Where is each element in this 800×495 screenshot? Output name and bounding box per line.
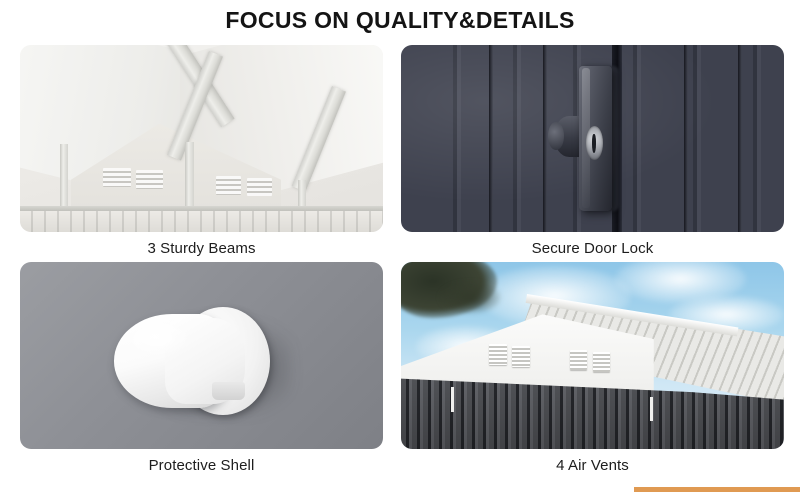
- image-protective-shell[interactable]: [20, 262, 383, 449]
- interior-vent-louver-3: [216, 176, 241, 195]
- support-post-1: [60, 144, 68, 208]
- door-panel-seam-4: [738, 45, 742, 232]
- accent-bar: [634, 487, 800, 492]
- feature-caption-secure-door-lock: Secure Door Lock: [401, 232, 784, 259]
- air-vent-louver-4: [593, 352, 611, 373]
- air-vent-louver-1: [489, 344, 507, 365]
- interior-vent-louver-4: [247, 178, 272, 197]
- corrugated-wall-panel: [20, 211, 383, 232]
- feature-card-sturdy-beams[interactable]: 3 Sturdy Beams: [20, 45, 383, 259]
- feature-card-air-vents[interactable]: 4 Air Vents: [401, 262, 784, 476]
- door-panel-seam-3: [684, 45, 688, 232]
- lock-knob-cap: [548, 122, 563, 150]
- air-vent-louver-3: [570, 350, 588, 371]
- feature-caption-protective-shell: Protective Shell: [20, 449, 383, 476]
- feature-card-secure-door-lock[interactable]: Secure Door Lock: [401, 45, 784, 259]
- keyhole-icon: [586, 126, 603, 160]
- feature-caption-sturdy-beams: 3 Sturdy Beams: [20, 232, 383, 259]
- image-sturdy-beams[interactable]: [20, 45, 383, 232]
- wall-latch-2: [650, 397, 653, 421]
- door-panel-seam-2: [543, 45, 547, 232]
- image-secure-door-lock[interactable]: [401, 45, 784, 232]
- tree-foliage-branch: [439, 281, 500, 315]
- support-post-2: [185, 142, 194, 209]
- wall-latch-1: [451, 387, 454, 411]
- air-vent-louver-2: [512, 346, 530, 367]
- interior-vent-louver-2: [136, 170, 163, 189]
- page-title: FOCUS ON QUALITY&DETAILS: [0, 6, 800, 34]
- door-panel-seam-1: [489, 45, 493, 232]
- feature-caption-air-vents: 4 Air Vents: [401, 449, 784, 476]
- shell-notch: [212, 382, 245, 401]
- image-air-vents[interactable]: [401, 262, 784, 449]
- feature-grid: 3 Sturdy Beams Secure Door Lock P: [20, 45, 784, 476]
- interior-vent-louver-1: [103, 168, 130, 187]
- shell-highlight: [133, 324, 191, 358]
- feature-card-protective-shell[interactable]: Protective Shell: [20, 262, 383, 476]
